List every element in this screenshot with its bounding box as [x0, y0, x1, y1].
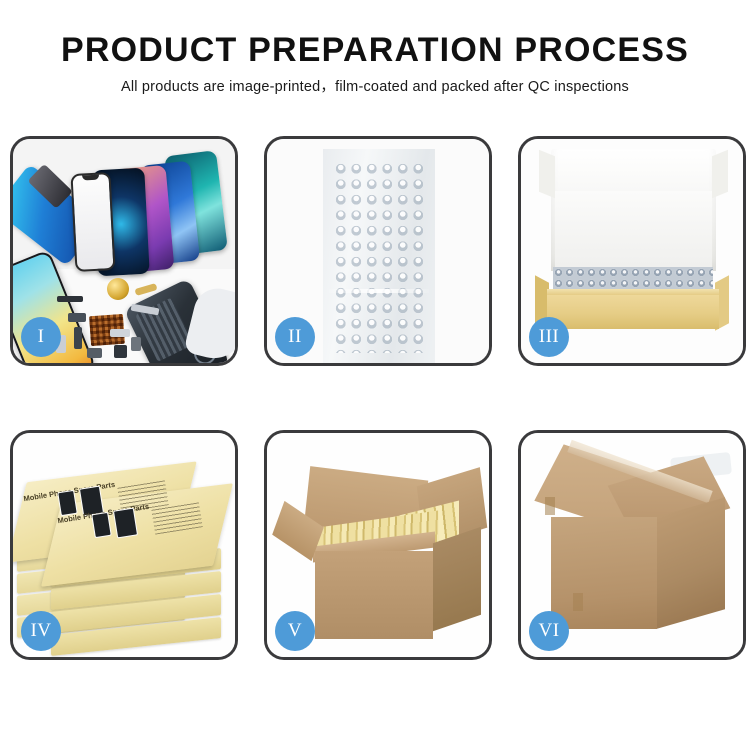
step-panel-2: II: [264, 136, 492, 366]
speaker-coil-icon: [107, 278, 129, 300]
step-panel-4: Mobile Phone Spare Parts Mobile Phone Sp…: [10, 430, 238, 660]
step-badge-1: I: [21, 317, 61, 357]
carton-front-icon: [315, 551, 433, 639]
mailer-front-icon: [547, 295, 719, 329]
bubble-wrap-pouch-icon: [323, 149, 435, 363]
page-header: PRODUCT PREPARATION PROCESS All products…: [0, 0, 750, 95]
page-subtitle: All products are image-printed，film-coat…: [0, 80, 750, 95]
carton-side-icon: [433, 527, 481, 632]
step-badge-6: VI: [529, 611, 569, 651]
box-screen-thumb-a1: [57, 490, 78, 516]
process-steps-grid: I II III: [10, 136, 741, 660]
step-badge-2: II: [275, 317, 315, 357]
step-panel-3: III: [518, 136, 746, 366]
step-badge-3: III: [529, 317, 569, 357]
step-panel-1: I: [10, 136, 238, 366]
sealed-carton-side-icon: [657, 497, 725, 628]
page-title: PRODUCT PREPARATION PROCESS: [0, 33, 750, 67]
step-panel-6: VI: [518, 430, 746, 660]
box-screen-thumb-b2: [113, 508, 138, 539]
sealed-carton-front-icon: [551, 517, 657, 629]
step-badge-4: IV: [21, 611, 61, 651]
box-screen-thumb-b1: [91, 512, 112, 538]
step-badge-5: V: [275, 611, 315, 651]
glass-panel-icon: [70, 172, 115, 272]
foam-sheet-icon: [555, 191, 712, 267]
step-panel-5: V: [264, 430, 492, 660]
